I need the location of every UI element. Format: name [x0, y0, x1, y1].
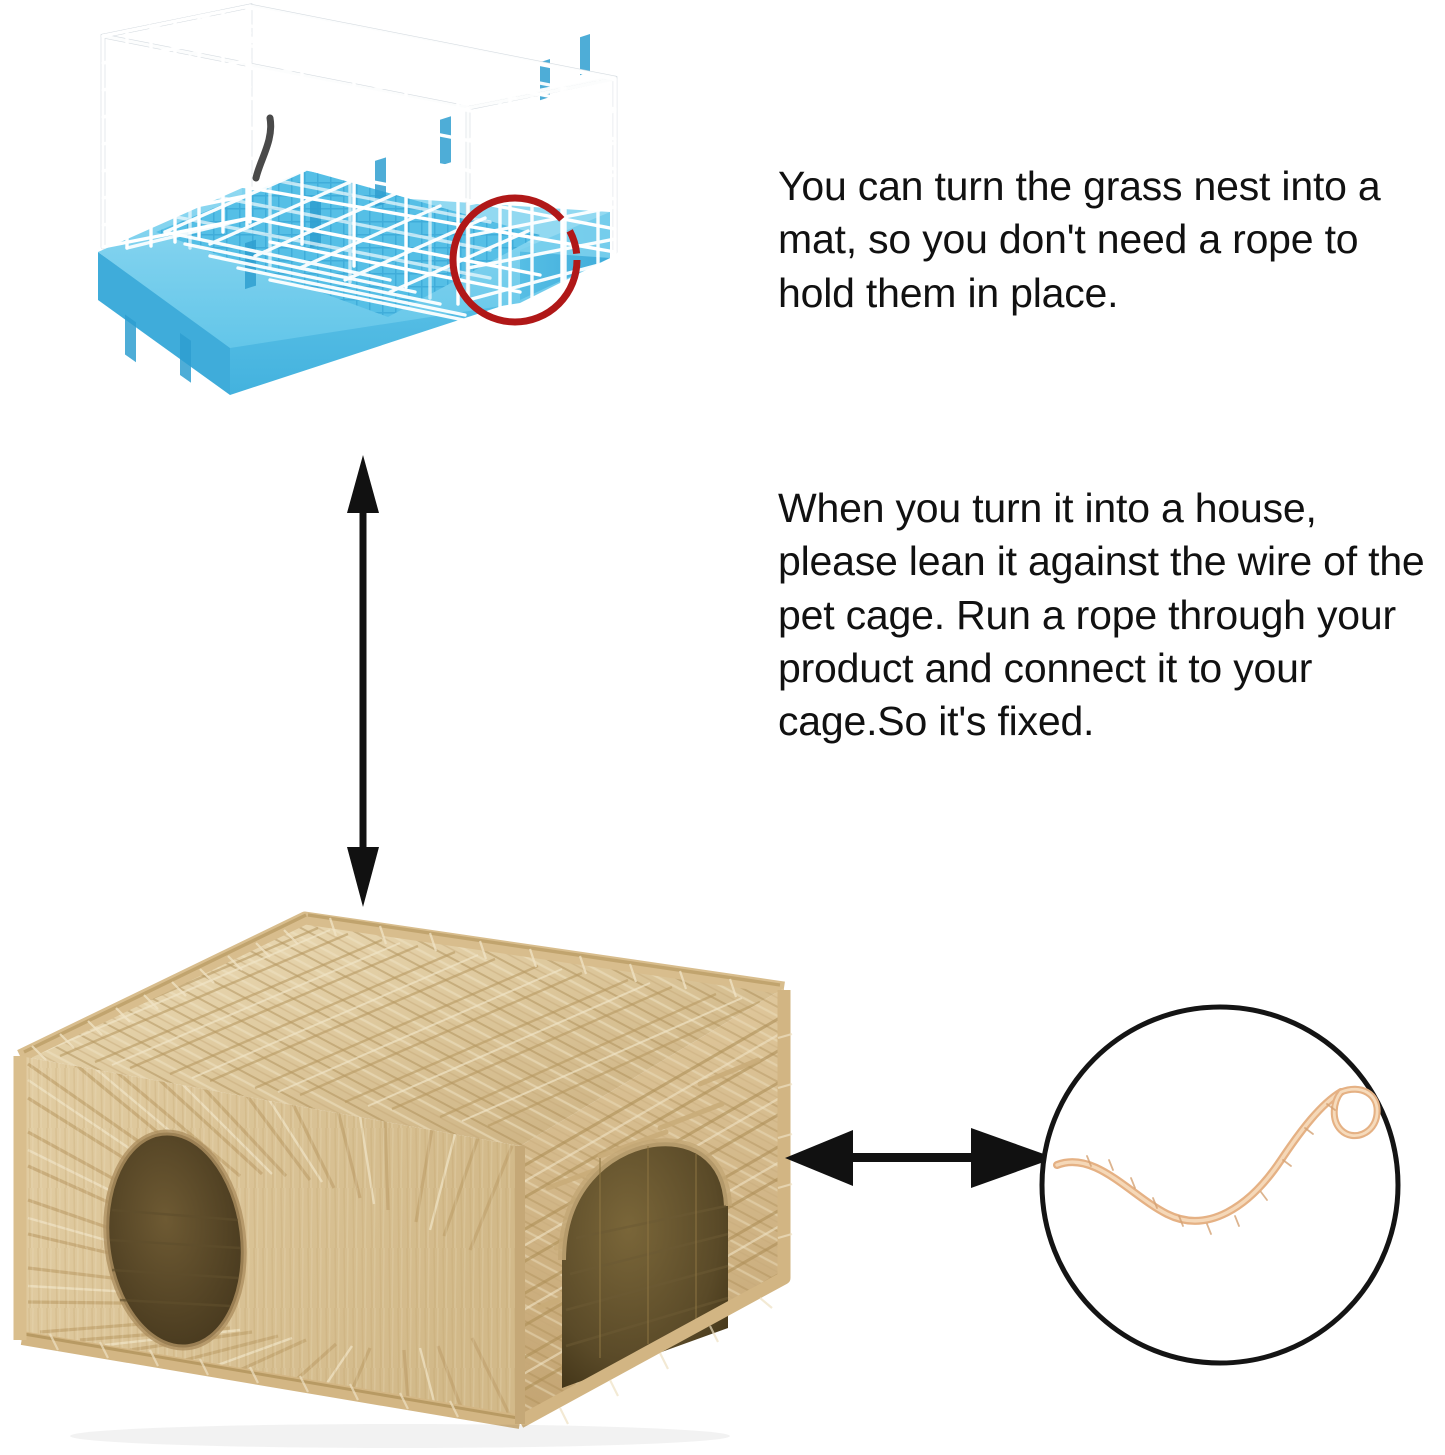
- house-to-rope-arrow: [775, 1120, 1065, 1200]
- infographic-canvas: You can turn the grass nest into a mat, …: [0, 0, 1445, 1455]
- instruction-text-house: When you turn it into a house, please le…: [778, 482, 1445, 748]
- arrow-left-icon: [785, 1130, 853, 1186]
- magnifier-circle-icon: [1042, 1007, 1398, 1363]
- arrow-up-icon: [347, 455, 379, 513]
- instruction-text-mat: You can turn the grass nest into a mat, …: [778, 160, 1438, 320]
- rope-detail-inset: [1035, 1000, 1405, 1370]
- pet-cage-illustration: [70, 0, 670, 430]
- grass-nest-house-illustration: [0, 888, 800, 1455]
- cage-to-house-arrow: [330, 445, 400, 915]
